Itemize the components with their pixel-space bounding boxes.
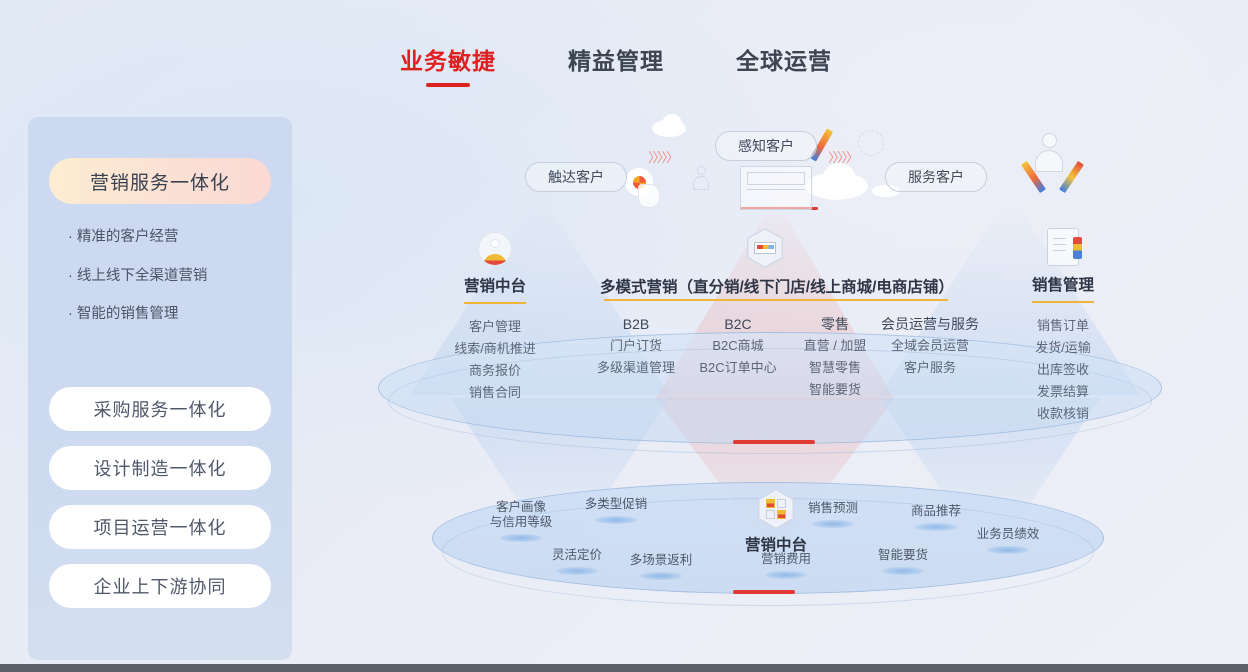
lightbulb-icon	[858, 130, 884, 156]
bottom-label-sales-forecast[interactable]: 销售预测	[795, 501, 871, 528]
sidebar-bullet: 精准的客户经营	[68, 230, 207, 245]
bottom-label-line1: 营销费用	[748, 552, 824, 567]
flow-arrow: 〉〉〉〉〉	[828, 147, 857, 166]
sales-document-icon	[1047, 228, 1079, 266]
column-item: 客户服务	[870, 357, 990, 379]
flow-pill-reach-customer[interactable]: 触达客户	[525, 162, 627, 192]
bottom-label-line1: 智能要货	[865, 548, 941, 563]
sidebar-item-project-operations[interactable]: 项目运营一体化	[49, 505, 271, 549]
column-retail: 零售 直营 / 加盟 智慧零售 智能要货	[792, 313, 878, 401]
bottom-label-rebates[interactable]: 多场景返利	[620, 553, 702, 580]
flow-pill-label: 感知客户	[738, 136, 794, 156]
column-membership: 会员运营与服务 全域会员运营 客户服务	[870, 313, 990, 379]
sidebar: 营销服务一体化 精准的客户经营 线上线下全渠道营销 智能的销售管理 观看视频 采…	[28, 117, 292, 660]
bottom-label-marketing-expense[interactable]: 营销费用	[748, 552, 824, 579]
hex-cell	[777, 499, 786, 508]
column-item: 多级渠道管理	[588, 357, 684, 379]
service-agent-icon	[1035, 133, 1063, 175]
bottom-label-promotions[interactable]: 多类型促销	[575, 497, 657, 524]
cursor-hand-icon	[638, 184, 660, 208]
column-head: 会员运营与服务	[870, 313, 990, 335]
sidebar-item-label: 企业上下游协同	[94, 573, 227, 599]
label-glow	[765, 571, 807, 579]
sidebar-item-label: 项目运营一体化	[94, 514, 227, 540]
sidebar-bullet-list: 精准的客户经营 线上线下全渠道营销 智能的销售管理	[68, 230, 207, 346]
marketing-avatar-icon	[478, 232, 512, 266]
hex-cell	[777, 510, 786, 519]
storefront-icon	[740, 166, 812, 210]
bottom-label-smart-ordering[interactable]: 智能要货	[865, 548, 941, 575]
column-b2b: B2B 门户订货 多级渠道管理	[588, 313, 684, 379]
column-item: 发票结算	[1008, 381, 1118, 403]
column-sales-management: 销售管理 销售订单 发货/运输 出库签收 发票结算 收款核销	[1008, 228, 1118, 425]
sidebar-item-procurement[interactable]: 采购服务一体化	[49, 387, 271, 431]
flow-pill-label: 触达客户	[548, 167, 604, 187]
label-glow	[915, 523, 957, 531]
bottom-label-flexible-pricing[interactable]: 灵活定价	[540, 548, 614, 575]
flow-arrow: 〉〉〉〉〉	[648, 147, 677, 166]
marketing-midplatform-hex-icon	[758, 489, 794, 529]
bottom-label-product-recommend[interactable]: 商品推荐	[898, 504, 974, 531]
column-item: 智能要货	[792, 379, 878, 401]
diagram-stage: 〉〉〉〉〉 〉〉〉〉〉 触达客户 感知客户 服务客户 营销中台 客户管理 线索/…	[300, 0, 1248, 660]
column-head: B2C	[688, 313, 788, 335]
middle-disc-accent-bar	[733, 440, 815, 444]
bottom-label-line1: 销售预测	[795, 501, 871, 516]
bottom-label-line2: 与信用等级	[478, 515, 564, 530]
column-item: 全域会员运营	[870, 335, 990, 357]
sidebar-bullet: 线上线下全渠道营销	[68, 269, 207, 284]
sidebar-item-supply-chain[interactable]: 企业上下游协同	[49, 564, 271, 608]
bottom-label-line1: 客户画像	[478, 500, 564, 515]
column-item: 直营 / 加盟	[792, 335, 878, 357]
bottom-label-salesperson-performance[interactable]: 业务员绩效	[965, 527, 1051, 554]
bottom-label-line1: 多场景返利	[620, 553, 702, 568]
column-item: 出库签收	[1008, 359, 1118, 381]
column-item: 线索/商机推进	[440, 338, 550, 360]
bottom-label-line1: 商品推荐	[898, 504, 974, 519]
label-glow	[812, 520, 854, 528]
page-scrollbar[interactable]	[0, 664, 1248, 672]
column-b2c: B2C B2C商城 B2C订单中心	[688, 313, 788, 379]
column-head: B2B	[588, 313, 684, 335]
bottom-disc-accent-bar	[733, 590, 795, 594]
column-item: 销售订单	[1008, 315, 1118, 337]
bottom-label-customer-profile[interactable]: 客户画像 与信用等级	[478, 500, 564, 542]
hex-cell	[766, 510, 775, 519]
column-item: 收款核销	[1008, 403, 1118, 425]
sidebar-active-title: 营销服务一体化	[90, 168, 230, 195]
label-glow	[500, 534, 542, 542]
title-underline	[1032, 301, 1094, 303]
column-item: 门户订货	[588, 335, 684, 357]
column-item: 销售合同	[440, 382, 550, 404]
hex-cell	[766, 499, 775, 508]
sidebar-bullet: 智能的销售管理	[68, 307, 207, 322]
label-glow	[595, 516, 637, 524]
column-head: 零售	[792, 313, 878, 335]
bottom-label-line1: 多类型促销	[575, 497, 657, 512]
title-underline	[464, 302, 526, 304]
title-underline	[604, 299, 948, 301]
column-item: 发货/运输	[1008, 337, 1118, 359]
column-item: B2C订单中心	[688, 357, 788, 379]
cloud-icon	[662, 114, 682, 134]
person-icon	[693, 166, 709, 192]
flow-pill-serve-customer[interactable]: 服务客户	[885, 162, 987, 192]
label-glow	[556, 567, 598, 575]
column-item: 智慧零售	[792, 357, 878, 379]
bottom-label-line1: 灵活定价	[540, 548, 614, 563]
flow-pill-sense-customer[interactable]: 感知客户	[715, 131, 817, 161]
column-title: 营销中台	[440, 274, 550, 296]
label-glow	[882, 567, 924, 575]
multimode-marketing-icon	[747, 228, 783, 272]
flow-pill-label: 服务客户	[908, 167, 964, 187]
sidebar-item-label: 设计制造一体化	[94, 455, 227, 481]
sidebar-item-label: 采购服务一体化	[94, 396, 227, 422]
cloud-icon	[822, 163, 856, 197]
multimode-marketing-title: 多模式营销（直分销/线下门店/线上商城/电商店铺）	[600, 275, 952, 297]
label-glow	[987, 546, 1029, 554]
label-glow	[640, 572, 682, 580]
column-marketing-midplatform: 营销中台 客户管理 线索/商机推进 商务报价 销售合同	[440, 232, 550, 404]
column-item: 客户管理	[440, 316, 550, 338]
column-item: B2C商城	[688, 335, 788, 357]
bottom-label-line1: 业务员绩效	[965, 527, 1051, 542]
sidebar-item-design-manufacturing[interactable]: 设计制造一体化	[49, 446, 271, 490]
sidebar-active-card[interactable]: 营销服务一体化	[49, 158, 271, 204]
column-title: 销售管理	[1008, 273, 1118, 295]
column-item: 商务报价	[440, 360, 550, 382]
